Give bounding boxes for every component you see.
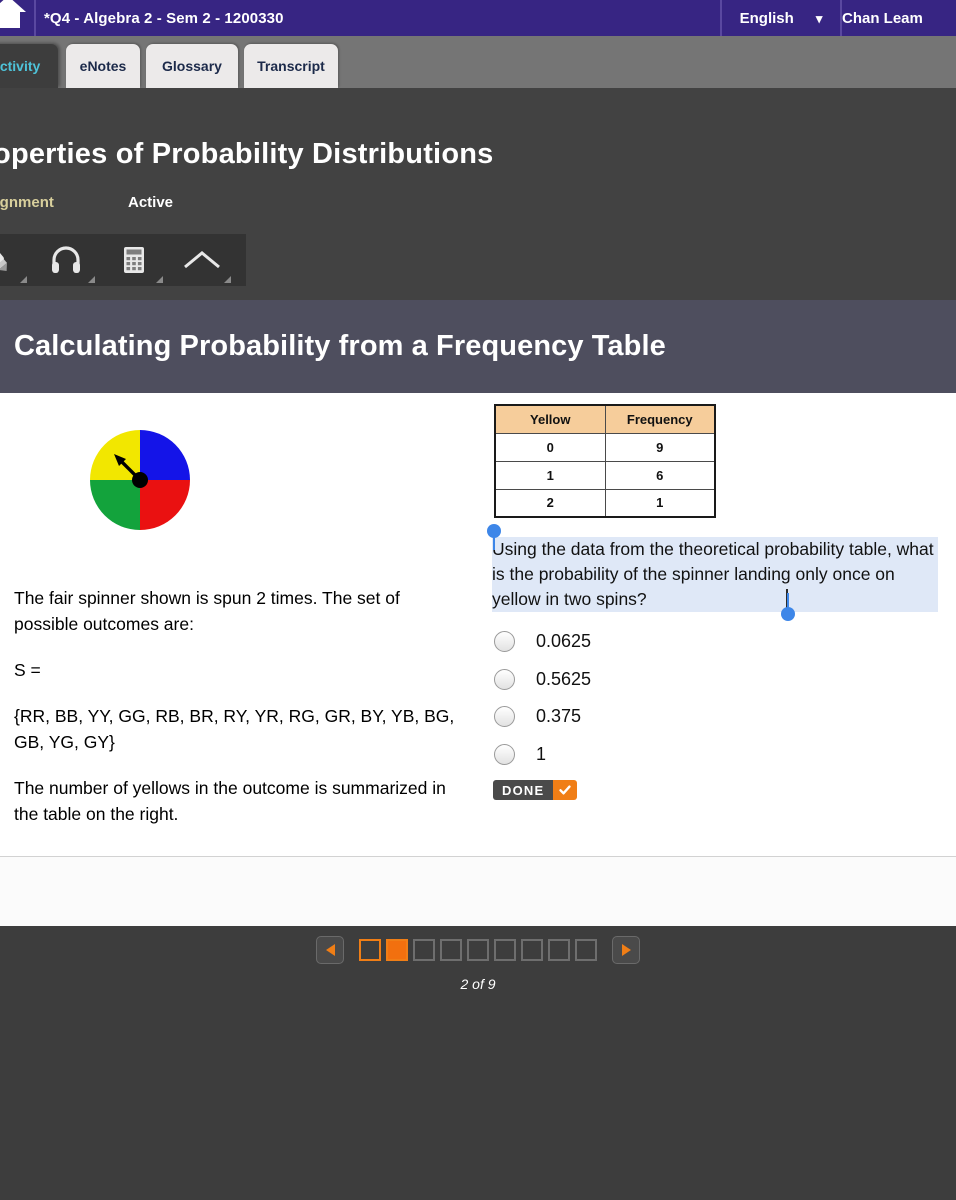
done-button-label: DONE [493, 780, 553, 800]
page-pips [359, 939, 597, 961]
user-menu[interactable]: Chan Leam [842, 0, 923, 36]
prose-paragraph-4: The number of yellows in the outcome is … [14, 775, 459, 827]
calculator-dropdown-caret[interactable] [156, 276, 163, 283]
column-header-frequency: Frequency [605, 405, 715, 433]
calculator-tool-button[interactable] [100, 234, 168, 286]
page-counter: 2 of 9 [0, 976, 956, 992]
cell-freq-1: 6 [605, 461, 715, 489]
table-row: 2 1 [495, 489, 715, 517]
prose-paragraph-2: S = [14, 657, 459, 683]
selection-handle-end-stem [787, 593, 789, 609]
language-label: English [740, 10, 794, 27]
cell-freq-2: 1 [605, 489, 715, 517]
radio-button-3[interactable] [494, 706, 515, 727]
pagination [0, 936, 956, 964]
spinner-hub [132, 472, 148, 488]
status-badge: Active [128, 194, 173, 211]
tab-enotes[interactable]: eNotes [66, 44, 140, 88]
cell-yellow-2: 2 [495, 489, 605, 517]
topbar-divider-left [34, 0, 36, 36]
cell-freq-0: 9 [605, 433, 715, 461]
page-pip-7[interactable] [521, 939, 543, 961]
tab-enotes-label: eNotes [80, 58, 127, 74]
tab-activity-label: Activity [0, 58, 40, 74]
tab-glossary-label: Glossary [162, 58, 222, 74]
column-header-yellow: Yellow [495, 405, 605, 433]
audio-tool-button[interactable] [32, 234, 100, 286]
frequency-table: Yellow Frequency 0 9 1 6 2 1 [494, 404, 716, 518]
assignment-header: Properties of Probability Distributions … [0, 88, 956, 300]
problem-description: The fair spinner shown is spun 2 times. … [14, 585, 459, 827]
done-button[interactable]: DONE [493, 780, 577, 800]
table-row: 1 6 [495, 461, 715, 489]
option-label-3: 0.375 [536, 706, 581, 727]
tab-strip: Activity eNotes Glossary Transcript [0, 36, 956, 88]
prose-paragraph-1: The fair spinner shown is spun 2 times. … [14, 585, 459, 637]
option-label-1: 0.0625 [536, 631, 591, 652]
page-pip-4[interactable] [440, 939, 462, 961]
selection-handle-end-dot [781, 607, 795, 621]
cell-yellow-1: 1 [495, 461, 605, 489]
page-pip-9[interactable] [575, 939, 597, 961]
selection-handle-end[interactable] [781, 607, 795, 621]
table-header-row: Yellow Frequency [495, 405, 715, 433]
check-icon [553, 780, 577, 800]
calculator-icon [117, 243, 151, 277]
collapse-tool-button[interactable] [168, 234, 236, 286]
page-pip-1[interactable] [359, 939, 381, 961]
selection-handle-start[interactable] [487, 524, 501, 538]
assignment-type: Assignment [0, 194, 54, 211]
cell-yellow-0: 0 [495, 433, 605, 461]
triangle-right-icon [622, 944, 631, 956]
lesson-title: Calculating Probability from a Frequency… [14, 330, 666, 363]
page-pip-2[interactable] [386, 939, 408, 961]
option-row-4[interactable]: 1 [494, 736, 824, 774]
user-name: Chan Leam [842, 10, 923, 27]
triangle-left-icon [326, 944, 335, 956]
audio-dropdown-caret[interactable] [88, 276, 95, 283]
prev-page-button[interactable] [316, 936, 344, 964]
radio-button-2[interactable] [494, 669, 515, 690]
tab-activity[interactable]: Activity [0, 44, 58, 88]
collapse-up-icon [182, 243, 222, 277]
option-row-1[interactable]: 0.0625 [494, 623, 824, 661]
option-label-2: 0.5625 [536, 669, 591, 690]
page-pip-6[interactable] [494, 939, 516, 961]
page-pip-3[interactable] [413, 939, 435, 961]
chevron-down-icon: ▾ [816, 12, 823, 25]
option-row-2[interactable]: 0.5625 [494, 661, 824, 699]
question-text[interactable]: Using the data from the theoretical prob… [492, 537, 938, 612]
next-page-button[interactable] [612, 936, 640, 964]
highlighter-icon [0, 243, 15, 277]
headphones-icon [49, 243, 83, 277]
tool-toolbar [0, 234, 246, 286]
tab-glossary[interactable]: Glossary [146, 44, 238, 88]
answer-options: 0.0625 0.5625 0.375 1 [494, 623, 824, 773]
option-label-4: 1 [536, 744, 546, 765]
top-bar: *Q4 - Algebra 2 - Sem 2 - 1200330 Englis… [0, 0, 956, 36]
content-bottom-pad [0, 857, 956, 926]
page-title: Properties of Probability Distributions [0, 138, 493, 171]
course-title: *Q4 - Algebra 2 - Sem 2 - 1200330 [44, 0, 284, 36]
page-pip-5[interactable] [467, 939, 489, 961]
footer-bar: 2 of 9 [0, 926, 956, 1200]
highlighter-tool-button[interactable] [0, 234, 32, 286]
table-row: 0 9 [495, 433, 715, 461]
tab-transcript-label: Transcript [257, 58, 325, 74]
spinner-diagram [90, 430, 190, 530]
option-row-3[interactable]: 0.375 [494, 698, 824, 736]
selection-handle-start-stem [493, 534, 495, 550]
highlighter-dropdown-caret[interactable] [20, 276, 27, 283]
page-pip-8[interactable] [548, 939, 570, 961]
home-icon[interactable] [0, 0, 30, 32]
radio-button-1[interactable] [494, 631, 515, 652]
language-selector[interactable]: English ▾ [722, 0, 840, 36]
prose-paragraph-3: {RR, BB, YY, GG, RB, BR, RY, YR, RG, GR,… [14, 703, 459, 755]
tab-transcript[interactable]: Transcript [244, 44, 338, 88]
radio-button-4[interactable] [494, 744, 515, 765]
lesson-banner: Calculating Probability from a Frequency… [0, 300, 956, 393]
collapse-dropdown-caret[interactable] [224, 276, 231, 283]
